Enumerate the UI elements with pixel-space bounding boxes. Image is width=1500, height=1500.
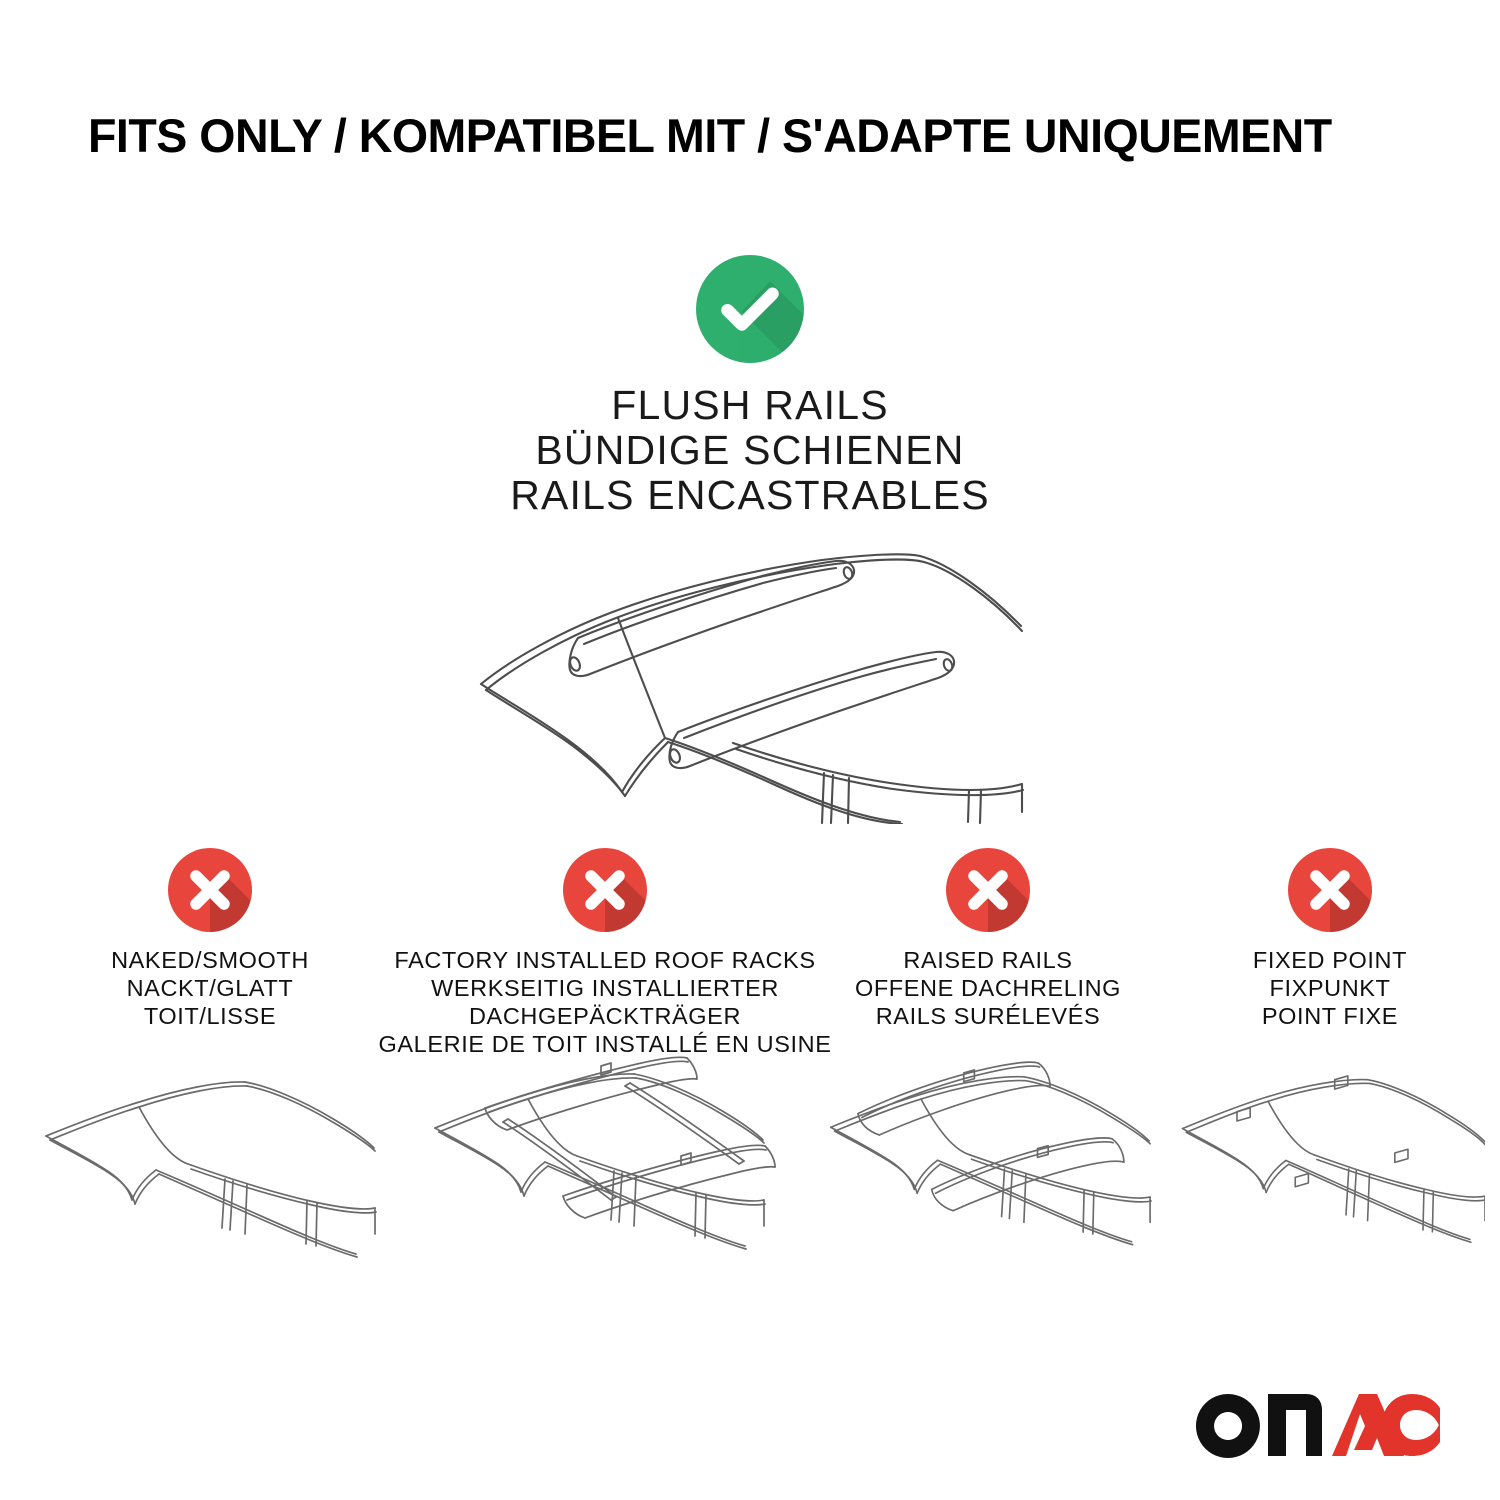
car-roof-factory-roof-racks-illustration [395, 1048, 815, 1288]
compatible-label-de: BÜNDIGE SCHIENEN [510, 428, 990, 473]
compatible-section: FLUSH RAILS BÜNDIGE SCHIENEN RAILS ENCAS… [0, 255, 1500, 824]
label-fr: RAILS SURÉLEVÉS [855, 1002, 1121, 1030]
label-en: FACTORY INSTALLED ROOF RACKS [379, 946, 832, 974]
label-en: FIXED POINT [1253, 946, 1407, 974]
compatible-label-en: FLUSH RAILS [510, 383, 990, 428]
car-roof-naked-smooth-illustration [35, 1048, 385, 1288]
incompatible-labels: RAISED RAILS OFFENE DACHRELING RAILS SUR… [855, 946, 1121, 1030]
label-de: OFFENE DACHRELING [855, 974, 1121, 1002]
cross-circle-icon [563, 848, 647, 932]
page-title: FITS ONLY / KOMPATIBEL MIT / S'ADAPTE UN… [88, 108, 1415, 164]
compatible-labels: FLUSH RAILS BÜNDIGE SCHIENEN RAILS ENCAS… [510, 383, 990, 518]
car-roof-flush-rails-illustration [450, 534, 1050, 824]
compatible-label-fr: RAILS ENCASTRABLES [510, 473, 990, 518]
cross-circle-icon [946, 848, 1030, 932]
incompatible-item-naked-smooth: NAKED/SMOOTH NACKT/GLATT TOIT/LISSE [35, 848, 385, 1030]
car-roof-fixed-point-illustration [1175, 1048, 1485, 1288]
incompatible-labels: FACTORY INSTALLED ROOF RACKS WERKSEITIG … [379, 946, 832, 1058]
label-en: RAISED RAILS [855, 946, 1121, 974]
check-circle-icon [696, 255, 804, 363]
cross-circle-icon [1288, 848, 1372, 932]
omac-logo [1194, 1392, 1442, 1458]
incompatible-section: NAKED/SMOOTH NACKT/GLATT TOIT/LISSE FACT… [0, 848, 1500, 1058]
label-fr: TOIT/LISSE [111, 1002, 309, 1030]
incompatible-labels: FIXED POINT FIXPUNKT POINT FIXE [1253, 946, 1407, 1030]
incompatible-item-fixed-point: FIXED POINT FIXPUNKT POINT FIXE [1175, 848, 1485, 1030]
label-de-2: DACHGEPÄCKTRÄGER [379, 1002, 832, 1030]
label-de: NACKT/GLATT [111, 974, 309, 1002]
incompatible-illustrations-row [0, 1048, 1500, 1288]
incompatible-labels: NAKED/SMOOTH NACKT/GLATT TOIT/LISSE [111, 946, 309, 1030]
label-en: NAKED/SMOOTH [111, 946, 309, 974]
label-de-1: WERKSEITIG INSTALLIERTER [379, 974, 832, 1002]
label-de: FIXPUNKT [1253, 974, 1407, 1002]
incompatible-item-raised-rails: RAISED RAILS OFFENE DACHRELING RAILS SUR… [823, 848, 1153, 1030]
cross-circle-icon [168, 848, 252, 932]
car-roof-raised-rails-illustration [823, 1048, 1153, 1288]
incompatible-item-factory-roof-racks: FACTORY INSTALLED ROOF RACKS WERKSEITIG … [395, 848, 815, 1058]
label-fr: POINT FIXE [1253, 1002, 1407, 1030]
